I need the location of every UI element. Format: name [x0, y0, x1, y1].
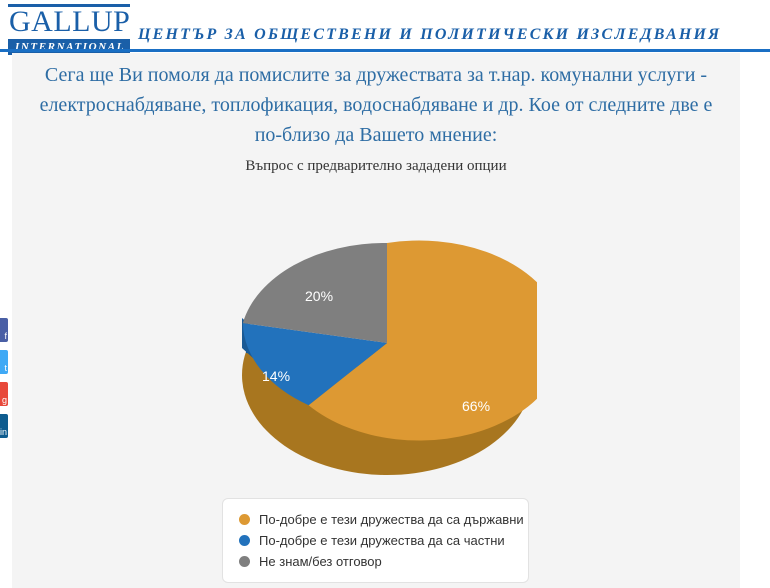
linkedin-glyph: in — [0, 428, 7, 437]
pie-label-orange: 66% — [462, 398, 490, 414]
legend-item-2[interactable]: Не знам/без отговор — [223, 551, 528, 572]
twitter-glyph: t — [4, 364, 7, 373]
legend-swatch-icon-2 — [239, 556, 250, 567]
facebook-share-icon[interactable]: f — [0, 318, 8, 342]
logo-primary-text: GALLUP — [8, 7, 130, 37]
site-header: GALLUP INTERNATIONAL ЦЕНТЪР ЗА ОБЩЕСТВЕН… — [0, 0, 770, 52]
google-plus-glyph: g — [2, 396, 7, 405]
chart-legend: По-добре е тези дружества да са държавни… — [222, 498, 529, 583]
social-share-rail: f t g in — [0, 318, 8, 446]
pie-label-blue: 14% — [262, 368, 290, 384]
content-panel: Сега ще Ви помоля да помислите за дружес… — [12, 53, 740, 588]
page-title: Сега ще Ви помоля да помислите за дружес… — [26, 60, 726, 150]
legend-item-0[interactable]: По-добре е тези дружества да са държавни — [223, 509, 528, 530]
legend-label-2: Не знам/без отговор — [259, 554, 382, 569]
pie-chart: 66% 14% 20% — [237, 198, 537, 488]
facebook-glyph: f — [4, 332, 7, 341]
legend-label-1: По-добре е тези дружества да са частни — [259, 533, 505, 548]
twitter-share-icon[interactable]: t — [0, 350, 8, 374]
pie-chart-svg — [237, 198, 537, 488]
pie-label-gray: 20% — [305, 288, 333, 304]
linkedin-share-icon[interactable]: in — [0, 414, 8, 438]
legend-label-0: По-добре е тези дружества да са държавни — [259, 512, 524, 527]
gallup-logo[interactable]: GALLUP INTERNATIONAL — [8, 4, 130, 55]
header-divider — [0, 49, 770, 52]
legend-swatch-icon-0 — [239, 514, 250, 525]
chart-title: Въпрос с предварително зададени опции — [12, 158, 740, 175]
legend-swatch-icon-1 — [239, 535, 250, 546]
google-plus-share-icon[interactable]: g — [0, 382, 8, 406]
pie-chart-canvas — [237, 198, 537, 488]
legend-item-1[interactable]: По-добре е тези дружества да са частни — [223, 530, 528, 551]
header-tagline: ЦЕНТЪР ЗА ОБЩЕСТВЕНИ И ПОЛИТИЧЕСКИ ИЗСЛЕ… — [138, 26, 721, 44]
